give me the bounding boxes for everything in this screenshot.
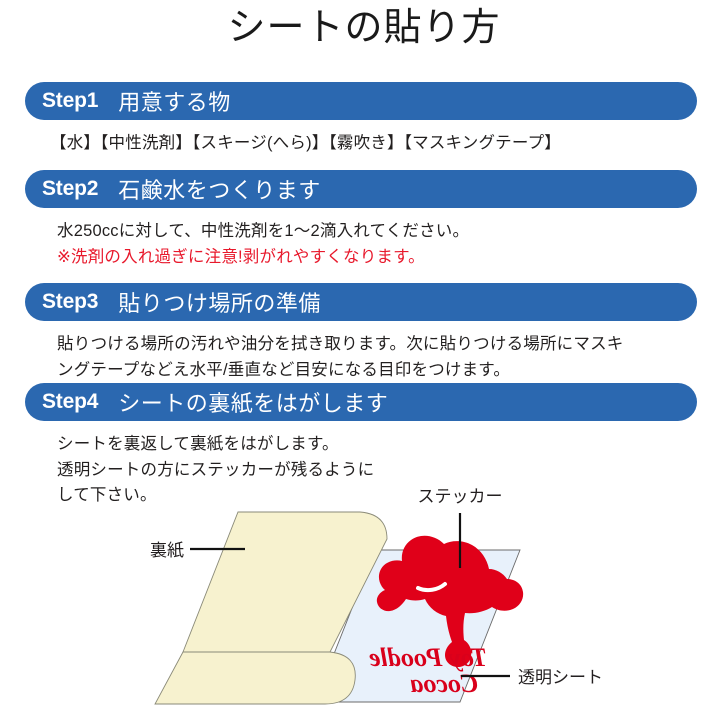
page-title: シートの貼り方 bbox=[0, 6, 728, 52]
step-block-1: Step1 用意する物 【水】【中性洗剤】【スキージ(へら)】【霧吹き】【マスキ… bbox=[0, 82, 728, 157]
step-number-3: Step3 bbox=[42, 290, 98, 314]
instruction-sheet: シートの貼り方 Step1 用意する物 【水】【中性洗剤】【スキージ(へら)】【… bbox=[0, 0, 728, 728]
step-4-line-1: シートを裏返して裏紙をはがします。 bbox=[57, 432, 728, 458]
step-heading-4: シートの裏紙をはがします bbox=[118, 386, 388, 418]
step-3-paragraph: 貼りつける場所の汚れや油分を拭き取ります。次に貼りつける場所にマスキングテープな… bbox=[57, 332, 632, 383]
callout-label-sticker: ステッカー bbox=[418, 487, 503, 506]
step-heading-2: 石鹸水をつくります bbox=[118, 173, 321, 205]
step-block-3: Step3 貼りつけ場所の準備 貼りつける場所の汚れや油分を拭き取ります。次に貼… bbox=[0, 283, 728, 383]
step-heading-1: 用意する物 bbox=[118, 85, 231, 117]
backing-paper-shape bbox=[155, 512, 387, 704]
step-number-1: Step1 bbox=[42, 89, 98, 113]
step-number-4: Step4 bbox=[42, 390, 98, 414]
step-1-materials-line: 【水】【中性洗剤】【スキージ(へら)】【霧吹き】【マスキングテープ】 bbox=[50, 131, 728, 157]
sticker-text-line-2: Cocoa bbox=[410, 669, 478, 698]
step-body-3: 貼りつける場所の汚れや油分を拭き取ります。次に貼りつける場所にマスキングテープな… bbox=[57, 332, 728, 383]
sticker-text-line-1: Toy Poodle bbox=[369, 643, 487, 672]
step-2-warning: ※洗剤の入れ過ぎに注意!剥がれやすくなります。 bbox=[57, 245, 728, 271]
callout-label-backing-paper: 裏紙 bbox=[150, 541, 184, 560]
step-bar-4: Step4 シートの裏紙をはがします bbox=[25, 383, 697, 421]
step-body-2: 水250ccに対して、中性洗剤を1〜2滴入れてください。 ※洗剤の入れ過ぎに注意… bbox=[57, 219, 728, 270]
step-bar-2: Step2 石鹸水をつくります bbox=[25, 170, 697, 208]
peel-illustration: Toy Poodle Cocoa 裏紙 ステッカー bbox=[0, 480, 728, 728]
step-2-line-1: 水250ccに対して、中性洗剤を1〜2滴入れてください。 bbox=[57, 219, 728, 245]
step-bar-3: Step3 貼りつけ場所の準備 bbox=[25, 283, 697, 321]
step-body-1: 【水】【中性洗剤】【スキージ(へら)】【霧吹き】【マスキングテープ】 bbox=[50, 131, 728, 157]
step-number-2: Step2 bbox=[42, 177, 98, 201]
callout-label-transparent-sheet: 透明シート bbox=[518, 668, 603, 687]
step-block-2: Step2 石鹸水をつくります 水250ccに対して、中性洗剤を1〜2滴入れてく… bbox=[0, 170, 728, 270]
step-bar-1: Step1 用意する物 bbox=[25, 82, 697, 120]
step-heading-3: 貼りつけ場所の準備 bbox=[118, 286, 321, 318]
